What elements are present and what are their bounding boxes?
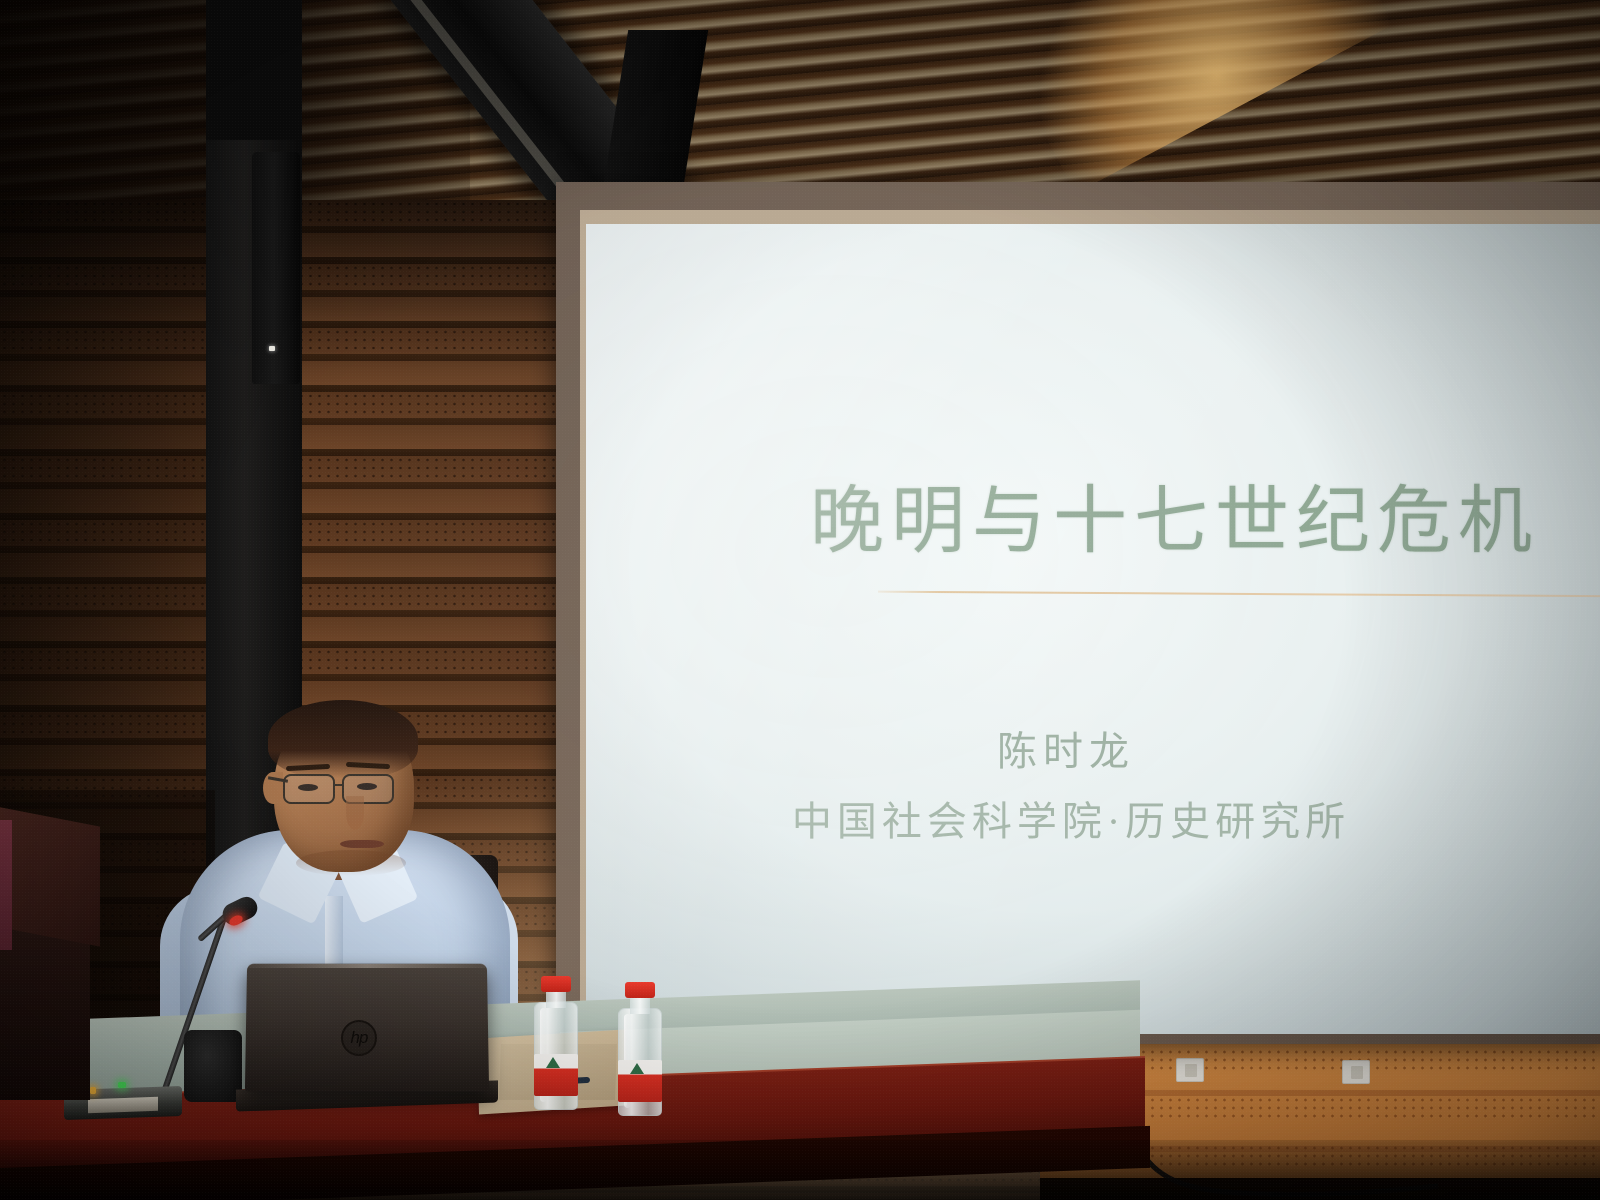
led-green-icon [118,1082,126,1088]
slide-divider-rule [878,591,1600,598]
glasses-bridge [335,784,344,786]
slide-affiliation: 中国社会科学院·历史研究所 [586,789,1600,847]
lecture-hall-photo: 晚明与十七世纪危机 陈时龙 中国社会科学院·历史研究所 [0,0,1600,1200]
speaker-led-icon [269,346,275,351]
bottle-label [534,1054,578,1096]
podium-top [0,803,100,946]
bottle-label [618,1060,662,1102]
led-amber-icon [90,1087,96,1094]
bottle-cap [541,976,571,992]
presenter-nose [346,796,364,830]
water-bottle [618,982,664,1122]
microphone-base-panel [88,1097,158,1113]
presenter-chin-shadow [296,850,406,876]
laptop-lid-highlight [248,964,486,968]
presentation-slide: 晚明与十七世纪危机 陈时龙 中国社会科学院·历史研究所 [586,224,1600,1034]
microphone-base-secondary [184,1030,242,1102]
wall-speaker [252,152,300,384]
projection-screen: 晚明与十七世纪危机 陈时龙 中国社会科学院·历史研究所 [586,224,1600,1034]
under-desk-shadow [0,1140,1600,1200]
slide-title: 晚明与十七世纪危机 [810,461,1539,568]
glasses-lens-left [283,774,335,804]
water-bottle [534,976,580,1116]
hp-logo-icon [341,1020,377,1056]
podium-front-panel [0,820,12,950]
dark-column-top [206,0,302,140]
presenter-mouth [340,840,384,848]
bottle-cap [625,982,655,998]
slide-author: 陈时龙 [586,719,1600,777]
